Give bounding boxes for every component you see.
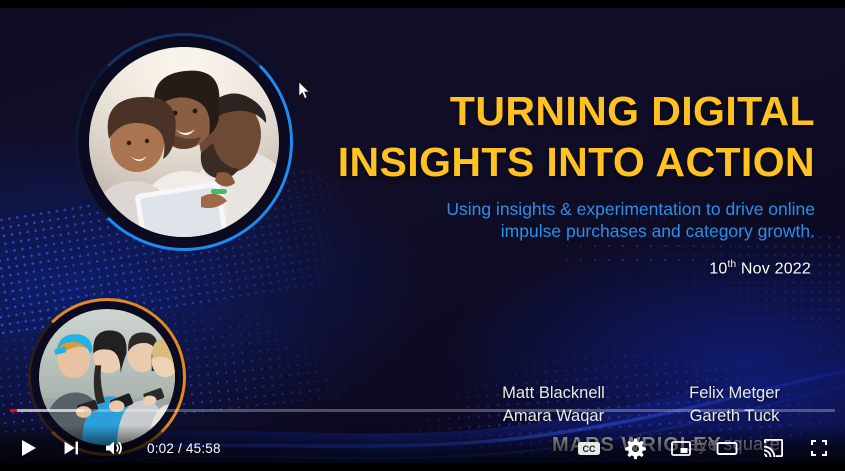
video-slide: TURNING DIGITAL INSIGHTS INTO ACTION Usi… <box>0 8 845 463</box>
play-icon <box>16 436 40 460</box>
fullscreen-button[interactable] <box>799 425 839 471</box>
photo-family-tablet <box>75 33 293 251</box>
slide-title-line-2: INSIGHTS INTO ACTION <box>305 137 815 188</box>
theater-button[interactable] <box>707 425 747 471</box>
cast-icon <box>761 436 785 460</box>
progress-played <box>10 409 17 412</box>
progress-bar[interactable] <box>0 409 845 414</box>
time-display: 0:02 / 45:58 <box>147 441 221 456</box>
progress-track[interactable] <box>10 409 835 412</box>
date-day: 10 <box>709 260 727 277</box>
slide-title-line-1: TURNING DIGITAL <box>305 86 815 137</box>
date-ordinal: th <box>728 259 737 270</box>
slide-subtitle: Using insights & experimentation to driv… <box>395 198 815 242</box>
controls-left-group[interactable]: 0:02 / 45:58 <box>8 425 221 471</box>
next-track-icon <box>60 437 82 459</box>
miniplayer-icon <box>669 436 693 460</box>
miniplayer-button[interactable] <box>661 425 701 471</box>
slide-date: 10th Nov 2022 <box>709 259 811 278</box>
theater-mode-icon <box>715 436 739 460</box>
volume-icon <box>102 436 126 460</box>
next-button[interactable] <box>51 425 91 471</box>
family-photo-illustration <box>89 47 279 237</box>
speaker-name: Felix Metger <box>660 384 809 403</box>
player-control-bar[interactable]: 0:02 / 45:58 CC <box>0 425 845 471</box>
volume-button[interactable] <box>94 425 134 471</box>
captions-button[interactable]: CC <box>569 425 609 471</box>
halftone-dot-wave-right-accent <box>600 233 845 353</box>
play-button[interactable] <box>8 425 48 471</box>
video-player[interactable]: TURNING DIGITAL INSIGHTS INTO ACTION Usi… <box>0 0 845 471</box>
settings-button[interactable] <box>615 425 655 471</box>
speaker-list: Matt Blacknell Felix Metger Amara Waqar … <box>479 384 809 426</box>
svg-text:CC: CC <box>583 444 596 454</box>
gear-icon <box>624 437 647 460</box>
progress-loaded <box>10 409 84 412</box>
slide-title: TURNING DIGITAL INSIGHTS INTO ACTION <box>305 86 815 188</box>
photo-clip-top <box>89 47 279 237</box>
speaker-name: Matt Blacknell <box>479 384 628 403</box>
fullscreen-icon <box>807 436 831 460</box>
cast-button[interactable] <box>753 425 793 471</box>
controls-right-group[interactable]: CC <box>569 425 839 471</box>
closed-captions-icon: CC <box>576 435 602 461</box>
date-rest: Nov 2022 <box>736 260 811 277</box>
